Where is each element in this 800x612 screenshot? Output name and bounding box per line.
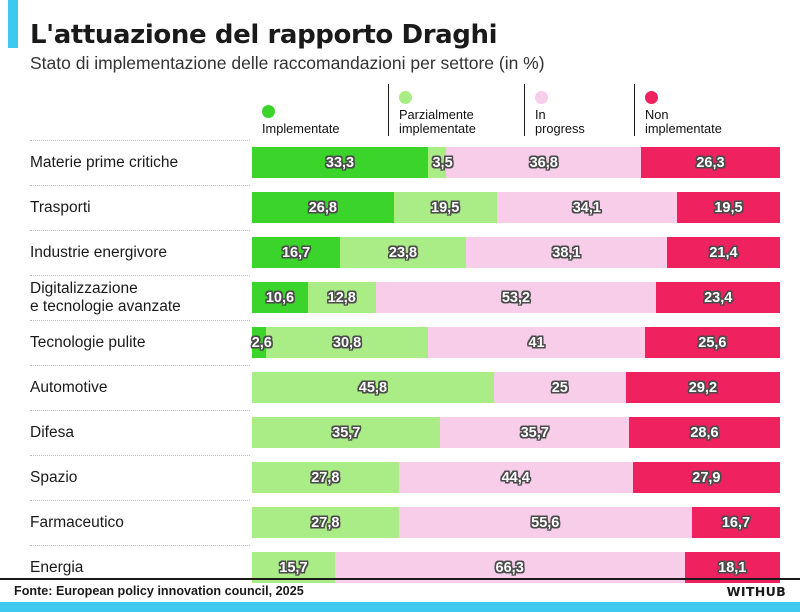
stacked-bar: 45,82529,2 — [252, 372, 780, 403]
segment-value-label: 29,2 — [689, 380, 717, 396]
row-label-digitalizzazione-e-tecnologie-avanzate: Digitalizzazione e tecnologie avanzate — [30, 275, 245, 320]
segment-value-label: 44,4 — [502, 470, 530, 486]
bar-segment-implementate[interactable]: 2,6 — [252, 327, 266, 358]
bar-segment-non-implementate[interactable]: 25,6 — [645, 327, 780, 358]
segment-value-label: 16,7 — [282, 245, 310, 261]
bar-segment-parzialmente[interactable]: 35,7 — [252, 417, 440, 448]
bar-segment-in-progress[interactable]: 34,1 — [497, 192, 677, 223]
bar-segment-parzialmente[interactable]: 23,8 — [340, 237, 466, 268]
bar-segment-in-progress[interactable]: 25 — [494, 372, 626, 403]
stacked-bar: 2,630,84125,6 — [252, 327, 780, 358]
segment-value-label: 18,1 — [718, 560, 746, 576]
bar-segment-parzialmente[interactable]: 45,8 — [252, 372, 494, 403]
bar-segment-non-implementate[interactable]: 23,4 — [656, 282, 780, 313]
segment-value-label: 10,6 — [266, 290, 294, 306]
bar-segment-in-progress[interactable]: 38,1 — [466, 237, 667, 268]
stacked-bar: 27,844,427,9 — [252, 462, 780, 493]
infographic-canvas: L'attuazione del rapporto Draghi Stato d… — [0, 0, 800, 612]
segment-value-label: 28,6 — [690, 425, 718, 441]
stacked-bar: 16,723,838,121,4 — [252, 237, 780, 268]
bar-segment-non-implementate[interactable]: 19,5 — [677, 192, 780, 223]
segment-value-label: 21,4 — [709, 245, 737, 261]
table-row[interactable]: Industrie energivore16,723,838,121,4 — [0, 230, 800, 275]
page-title: L'attuazione del rapporto Draghi — [30, 22, 775, 49]
table-row[interactable]: Tecnologie pulite2,630,84125,62,6 — [0, 320, 800, 365]
row-label-industrie-energivore: Industrie energivore — [30, 230, 245, 275]
segment-value-label: 66,3 — [496, 560, 524, 576]
legend-item-implementate[interactable]: Implementate — [252, 84, 388, 136]
legend-dot-parzialmente-icon — [399, 91, 412, 104]
segment-value-label: 27,9 — [692, 470, 720, 486]
stacked-bar: 27,855,616,7 — [252, 507, 780, 538]
segment-value-label: 34,1 — [573, 200, 601, 216]
stacked-bar: 10,612,853,223,4 — [252, 282, 780, 313]
bar-segment-in-progress[interactable]: 53,2 — [376, 282, 657, 313]
segment-value-label: 36,8 — [530, 155, 558, 171]
table-row[interactable]: Farmaceutico27,855,616,7 — [0, 500, 800, 545]
stacked-bar: 26,819,534,119,5 — [252, 192, 780, 223]
row-label-farmaceutico: Farmaceutico — [30, 500, 245, 545]
legend-dot-implementate-icon — [262, 105, 275, 118]
segment-value-label: 16,7 — [722, 515, 750, 531]
segment-value-label: 45,8 — [359, 380, 387, 396]
segment-value-label: 12,8 — [328, 290, 356, 306]
bar-segment-non-implementate[interactable]: 27,9 — [633, 462, 780, 493]
segment-value-label: 26,8 — [309, 200, 337, 216]
bar-segment-non-implementate[interactable]: 29,2 — [626, 372, 780, 403]
row-label-trasporti: Trasporti — [30, 185, 245, 230]
bar-segment-parzialmente[interactable]: 3,5 — [428, 147, 446, 178]
brand-logo: WITHUB — [727, 584, 786, 599]
segment-value-label: 35,7 — [521, 425, 549, 441]
table-row[interactable]: Spazio27,844,427,9 — [0, 455, 800, 500]
legend-label: In progress — [535, 108, 634, 136]
segment-value-label: 38,1 — [552, 245, 580, 261]
accent-bar-top-left — [8, 0, 18, 48]
legend-item-non-implementate[interactable]: Non implementate — [634, 84, 780, 136]
legend-dot-non-implementate-icon — [645, 91, 658, 104]
stacked-bar: 35,735,728,6 — [252, 417, 780, 448]
segment-value-label: 27,8 — [311, 470, 339, 486]
row-label-difesa: Difesa — [30, 410, 245, 455]
row-label-spazio: Spazio — [30, 455, 245, 500]
segment-value-label: 26,3 — [696, 155, 724, 171]
legend-item-in-progress[interactable]: In progress — [524, 84, 634, 136]
bar-segment-in-progress[interactable]: 44,4 — [399, 462, 633, 493]
stacked-bar: 33,33,536,826,3 — [252, 147, 780, 178]
legend-dot-in-progress-icon — [535, 91, 548, 104]
source-note: Fonte: European policy innovation counci… — [14, 584, 304, 598]
segment-value-label: 19,5 — [431, 200, 459, 216]
bar-segment-in-progress[interactable]: 41 — [428, 327, 644, 358]
segment-value-label: 27,8 — [311, 515, 339, 531]
bar-segment-implementate[interactable]: 16,7 — [252, 237, 340, 268]
bar-segment-implementate[interactable]: 33,3 — [252, 147, 428, 178]
bar-segment-non-implementate[interactable]: 26,3 — [641, 147, 780, 178]
bar-segment-parzialmente[interactable]: 30,8 — [266, 327, 429, 358]
segment-value-label: 33,3 — [326, 155, 354, 171]
legend-label: Parzialmente implementate — [399, 108, 524, 136]
page-subtitle: Stato di implementazione delle raccomand… — [30, 53, 775, 73]
segment-value-label: 30,8 — [333, 335, 361, 351]
legend-label: Implementate — [262, 122, 388, 136]
bar-segment-in-progress[interactable]: 35,7 — [440, 417, 628, 448]
bottom-accent-strip — [0, 602, 800, 612]
legend-item-parzialmente[interactable]: Parzialmente implementate — [388, 84, 524, 136]
segment-value-label: 25,6 — [698, 335, 726, 351]
segment-value-label: 53,2 — [502, 290, 530, 306]
segment-value-label: 23,8 — [389, 245, 417, 261]
table-row[interactable]: Automotive45,82529,2 — [0, 365, 800, 410]
table-row[interactable]: Trasporti26,819,534,119,5 — [0, 185, 800, 230]
bar-segment-parzialmente[interactable]: 19,5 — [394, 192, 497, 223]
segment-value-label: 55,6 — [531, 515, 559, 531]
chart-rows: Materie prime critiche33,33,536,826,33,5… — [0, 140, 800, 590]
legend: ImplementateParzialmente implementateIn … — [252, 84, 780, 136]
bar-segment-non-implementate[interactable]: 16,7 — [692, 507, 780, 538]
bar-segment-implementate[interactable]: 26,8 — [252, 192, 394, 223]
segment-value-label: 23,4 — [704, 290, 732, 306]
footer: Fonte: European policy innovation counci… — [0, 580, 800, 602]
bar-segment-non-implementate[interactable]: 21,4 — [667, 237, 780, 268]
segment-value-label: 25 — [552, 380, 568, 396]
bar-segment-parzialmente[interactable]: 27,8 — [252, 462, 399, 493]
bar-segment-non-implementate[interactable]: 28,6 — [629, 417, 780, 448]
row-label-tecnologie-pulite: Tecnologie pulite — [30, 320, 245, 365]
segment-value-label: 15,7 — [279, 560, 307, 576]
segment-value-label: 35,7 — [332, 425, 360, 441]
legend-label: Non implementate — [645, 108, 780, 136]
bar-segment-in-progress[interactable]: 36,8 — [446, 147, 640, 178]
bar-segment-in-progress[interactable]: 55,6 — [399, 507, 692, 538]
row-label-automotive: Automotive — [30, 365, 245, 410]
row-label-materie-prime-critiche: Materie prime critiche — [30, 140, 245, 185]
table-row[interactable]: Materie prime critiche33,33,536,826,33,5 — [0, 140, 800, 185]
segment-value-label: 41 — [528, 335, 544, 351]
header: L'attuazione del rapporto Draghi Stato d… — [30, 22, 775, 73]
table-row[interactable]: Difesa35,735,728,6 — [0, 410, 800, 455]
bar-segment-parzialmente[interactable]: 27,8 — [252, 507, 399, 538]
segment-value-label: 19,5 — [714, 200, 742, 216]
bar-segment-parzialmente[interactable]: 12,8 — [308, 282, 376, 313]
bar-segment-implementate[interactable]: 10,6 — [252, 282, 308, 313]
table-row[interactable]: Digitalizzazione e tecnologie avanzate10… — [0, 275, 800, 320]
